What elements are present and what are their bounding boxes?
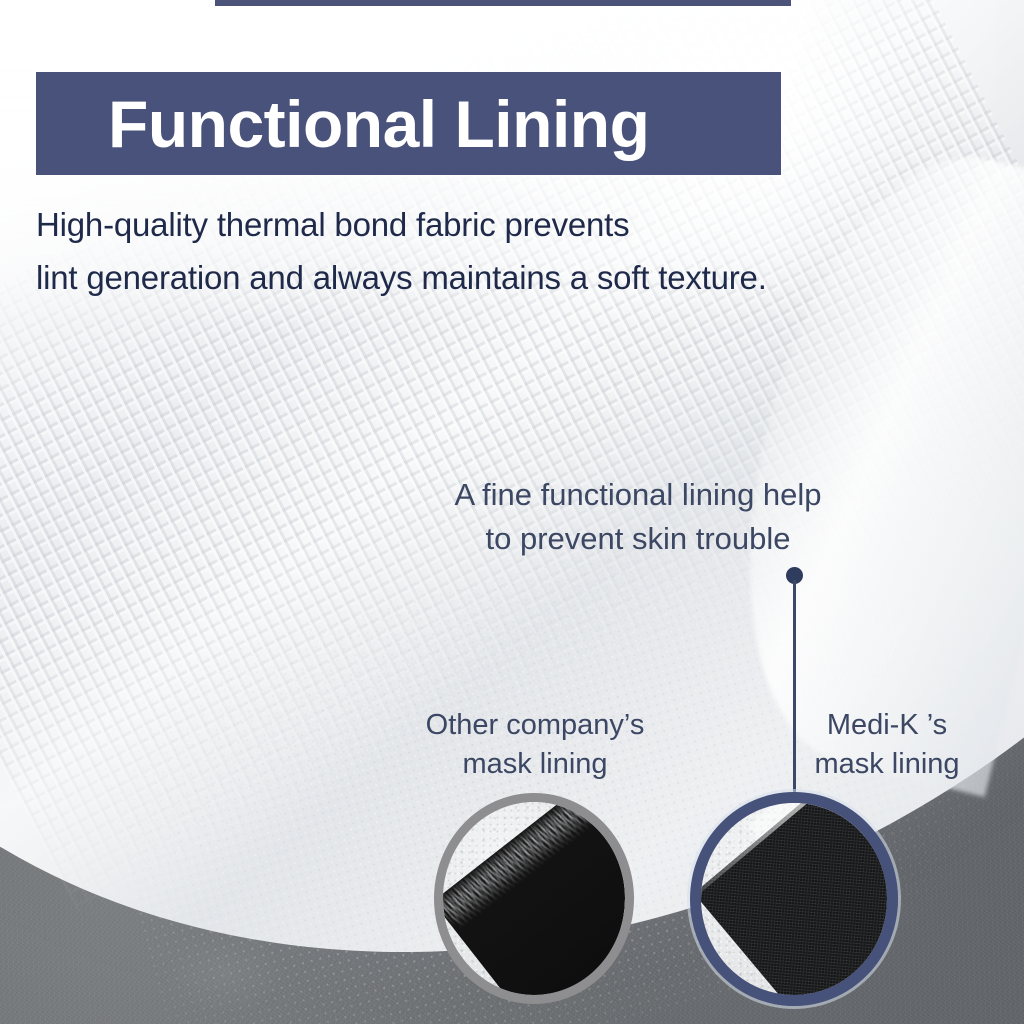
title-banner: Functional Lining <box>36 72 781 175</box>
previous-banner-sliver <box>215 0 791 6</box>
callout-text: A fine functional lining help to prevent… <box>338 473 938 561</box>
other-company-detail-circle <box>434 793 634 1004</box>
medik-label: Medi-K ’s mask lining <box>772 706 1002 784</box>
medik-detail-image <box>701 803 887 995</box>
other-company-label: Other company’s mask lining <box>385 706 685 784</box>
medik-detail-circle <box>690 792 898 1006</box>
other-company-detail-image <box>443 802 625 995</box>
page-title: Functional Lining <box>36 91 649 157</box>
product-feature-slide: Functional Lining High-quality thermal b… <box>0 0 1024 1024</box>
subtitle-description: High-quality thermal bond fabric prevent… <box>36 198 936 305</box>
